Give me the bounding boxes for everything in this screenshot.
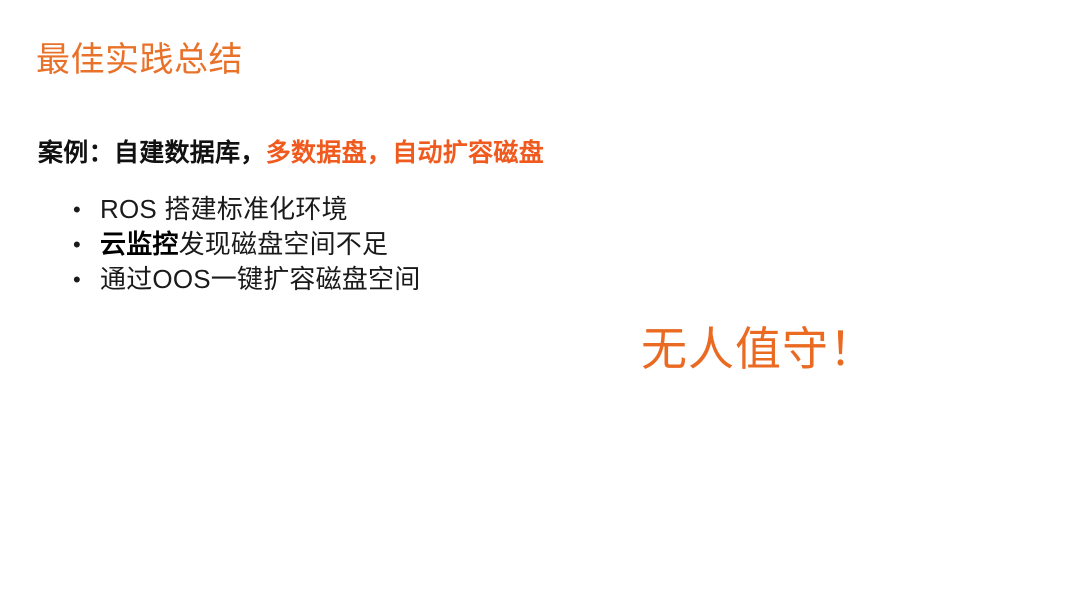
list-item: • 云监控发现磁盘空间不足 [64,227,420,262]
list-item: • 通过OOS一键扩容磁盘空间 [64,262,420,297]
case-heading-dark-segment: 案例：自建数据库， [38,139,266,167]
list-item-label: 通过OOS一键扩容磁盘空间 [100,264,420,294]
list-item: • ROS 搭建标准化环境 [64,192,420,227]
callout-text: 无人值守！ [641,319,876,379]
list-item-label: ROS 搭建标准化环境 [100,194,348,224]
list-item-emphasis: 云监控 [100,229,179,259]
list-item-text: 通过OOS一键扩容磁盘空间 [100,264,420,294]
list-item-text: 发现磁盘空间不足 [179,229,389,259]
list-item-text: ROS 搭建标准化环境 [100,194,348,224]
bullet-dot-icon: • [68,227,86,262]
case-heading: 案例：自建数据库，多数据盘，自动扩容磁盘 [38,136,544,170]
bullet-list: • ROS 搭建标准化环境 • 云监控发现磁盘空间不足 • 通过OOS一键扩容磁… [64,192,420,297]
page-title: 最佳实践总结 [36,38,243,82]
list-item-label: 云监控发现磁盘空间不足 [100,229,388,259]
slide-canvas: 最佳实践总结 案例：自建数据库，多数据盘，自动扩容磁盘 • ROS 搭建标准化环… [0,0,1080,608]
bullet-dot-icon: • [68,262,86,297]
case-heading-accent-segment: 多数据盘，自动扩容磁盘 [266,139,544,167]
bullet-dot-icon: • [68,192,86,227]
